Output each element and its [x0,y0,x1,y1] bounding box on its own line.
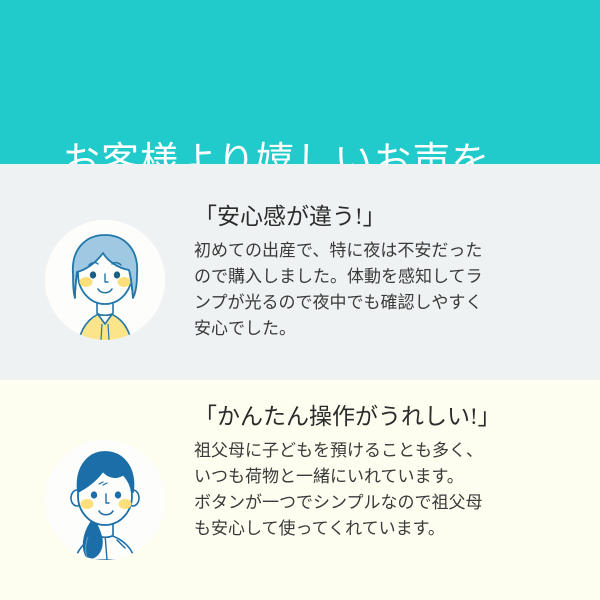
testimonial-text-1: 「安心感が違う!」 初めての出産で、特に夜は不安だった ので購入しました。体動を… [194,202,594,342]
testimonial-section-2: 「かんたん操作がうれしい!」 祖父母に子どもを預けることも多く、 いつも荷物と一… [0,380,600,600]
page-header: お客様より嬉しいお声を いただきました [0,0,600,164]
testimonial-headline-2: 「かんたん操作がうれしい!」 [194,402,594,432]
testimonial-text-2: 「かんたん操作がうれしい!」 祖父母に子どもを預けることも多く、 いつも荷物と一… [194,402,594,542]
testimonial-body-2: 祖父母に子どもを預けることも多く、 いつも荷物と一緒にいれています。 ボタンが一… [194,438,594,542]
testimonial-headline-1: 「安心感が違う!」 [194,202,594,232]
testimonial-section-1: 「安心感が違う!」 初めての出産で、特に夜は不安だった ので購入しました。体動を… [0,164,600,380]
testimonial-body-1: 初めての出産で、特に夜は不安だった ので購入しました。体動を感知してラ ンプが光… [194,238,594,342]
avatar-woman-dark-blue-ponytail [45,440,165,560]
testimonial-page: お客様より嬉しいお声を いただきました [0,0,600,600]
avatar-woman-light-blue-bob [45,220,165,340]
